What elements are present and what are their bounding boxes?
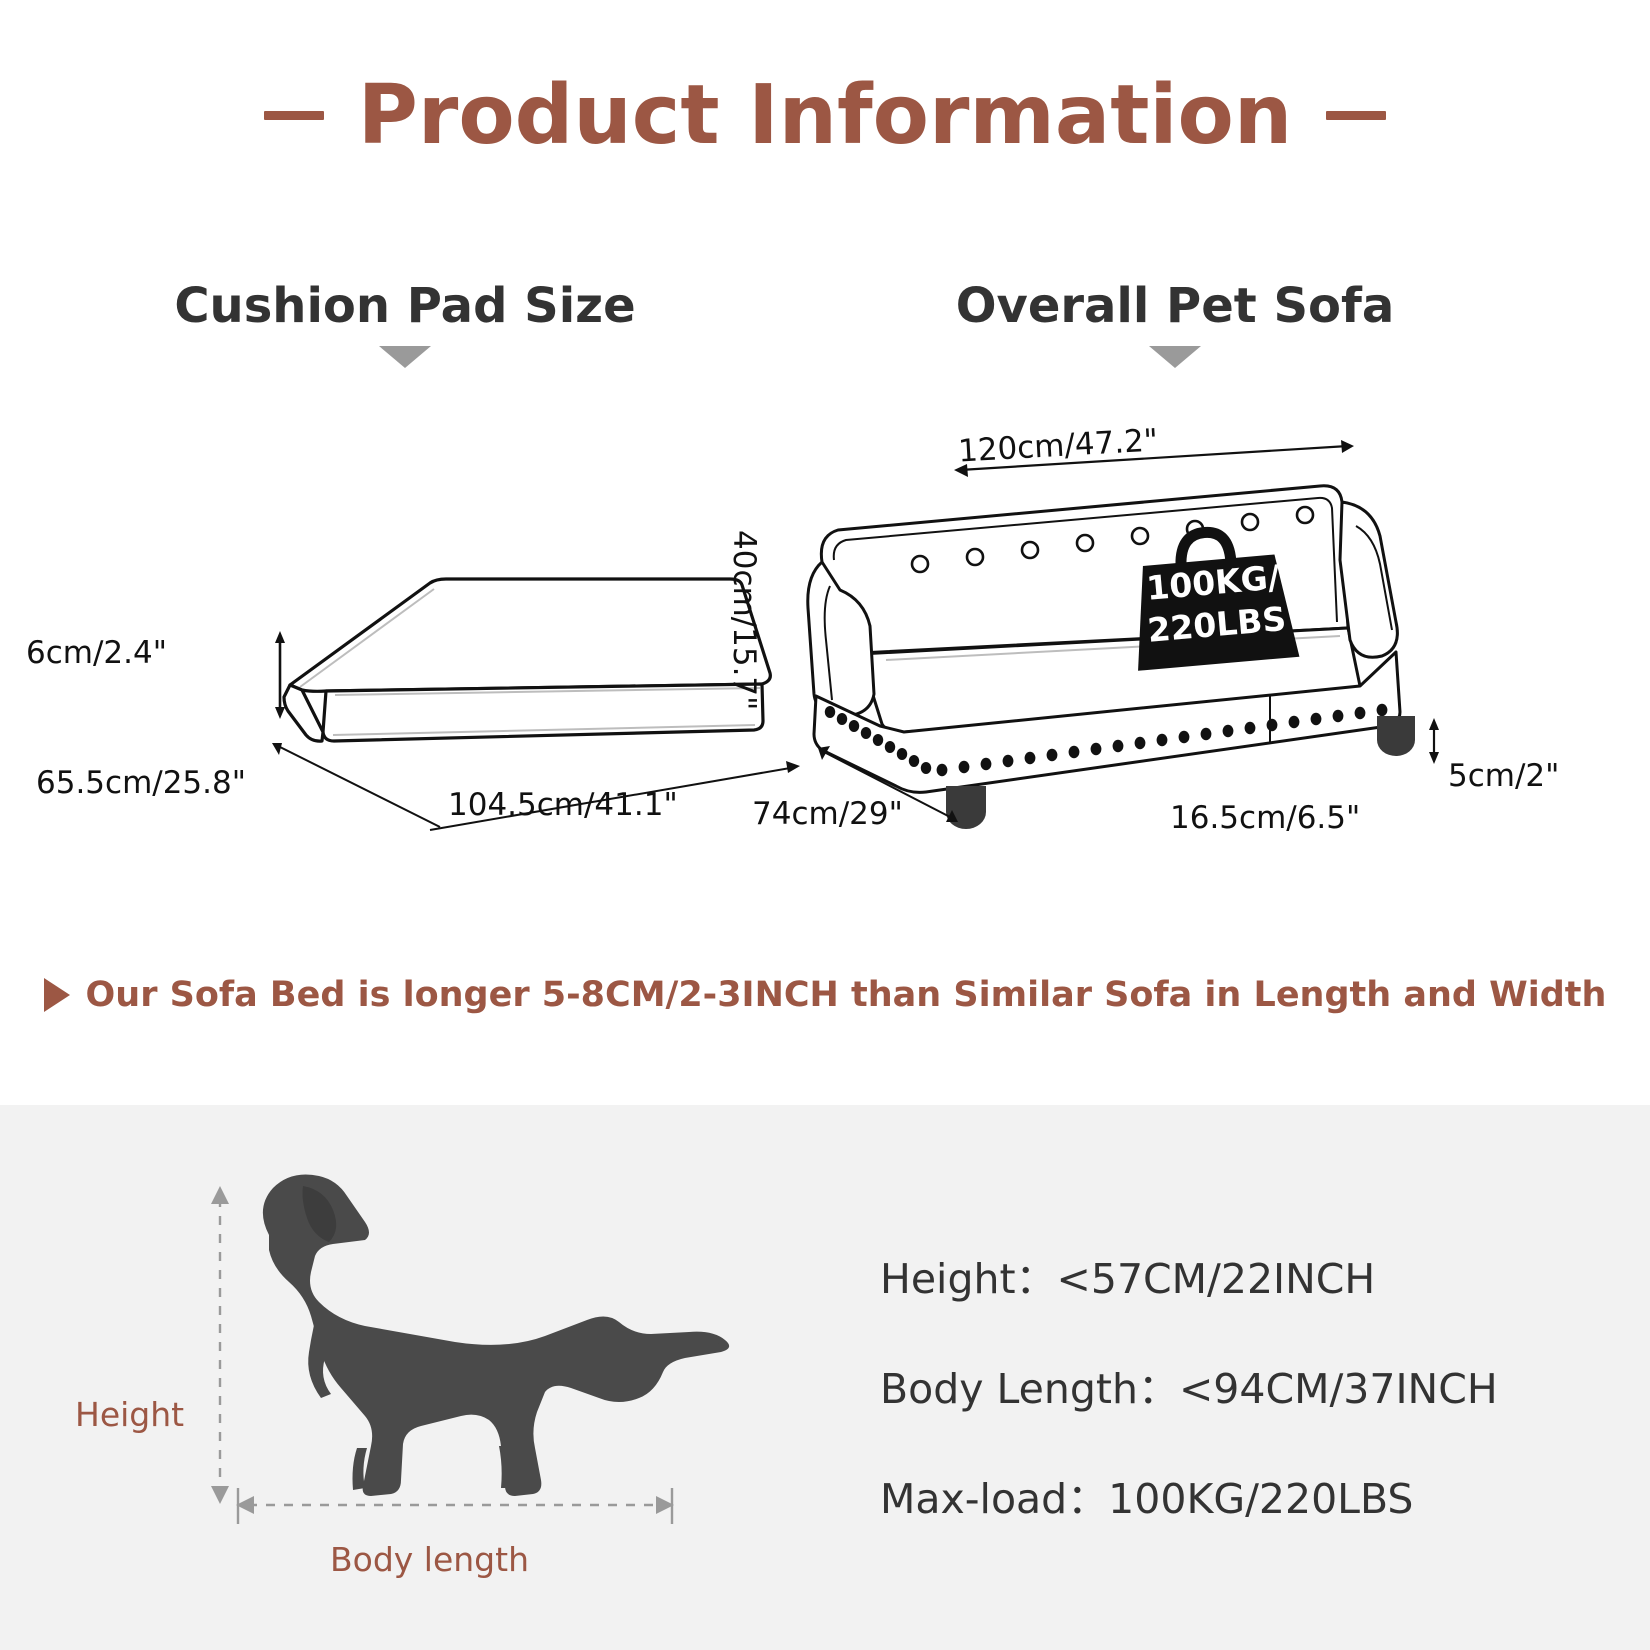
spec-item-max-load: Max-load：100KG/220LBS [880, 1465, 1498, 1525]
dog-height-measure [190, 1180, 250, 1510]
triangle-down-icon [379, 346, 431, 368]
dog-silhouette-icon [215, 1140, 755, 1510]
spec-item-body-length: Body Length：<94CM/37INCH [880, 1355, 1498, 1415]
spec-list: Height：<57CM/22INCH Body Length：<94CM/37… [880, 1245, 1498, 1575]
spec-item-height: Height：<57CM/22INCH [880, 1245, 1498, 1305]
cushion-heading-text: Cushion Pad Size [100, 278, 710, 334]
sofa-seat-height-label: 16.5cm/6.5" [1170, 800, 1360, 836]
sofa-heading-text: Overall Pet Sofa [870, 278, 1480, 334]
cushion-width-label: 65.5cm/25.8" [36, 765, 246, 801]
dog-body-length-measure [230, 1480, 680, 1530]
sofa-leg-height-label: 5cm/2" [1448, 758, 1559, 794]
triangle-down-icon [1149, 346, 1201, 368]
triangle-right-icon [44, 978, 70, 1012]
title-dash-left [264, 111, 324, 120]
title-text: Product Information [358, 68, 1292, 163]
sofa-back-height-label: 40cm/15.7" [726, 530, 762, 710]
tagline-text: Our Sofa Bed is longer 5-8CM/2-3INCH tha… [86, 975, 1607, 1015]
sofa-section-heading: Overall Pet Sofa [870, 278, 1480, 368]
dog-body-length-label: Body length [330, 1540, 529, 1579]
max-load-badge-text: 100KG/ 220LBS [1137, 556, 1294, 653]
dog-height-label: Height [75, 1395, 184, 1434]
cushion-thickness-label: 6cm/2.4" [26, 635, 167, 671]
sofa-depth-label: 74cm/29" [752, 796, 903, 832]
product-information-infographic: Product Information Cushion Pad Size Ove… [0, 0, 1650, 1650]
cushion-length-label: 104.5cm/41.1" [448, 787, 678, 823]
page-title: Product Information [0, 68, 1650, 163]
cushion-section-heading: Cushion Pad Size [100, 278, 710, 368]
title-dash-right [1326, 111, 1386, 120]
tagline: Our Sofa Bed is longer 5-8CM/2-3INCH tha… [0, 975, 1650, 1015]
